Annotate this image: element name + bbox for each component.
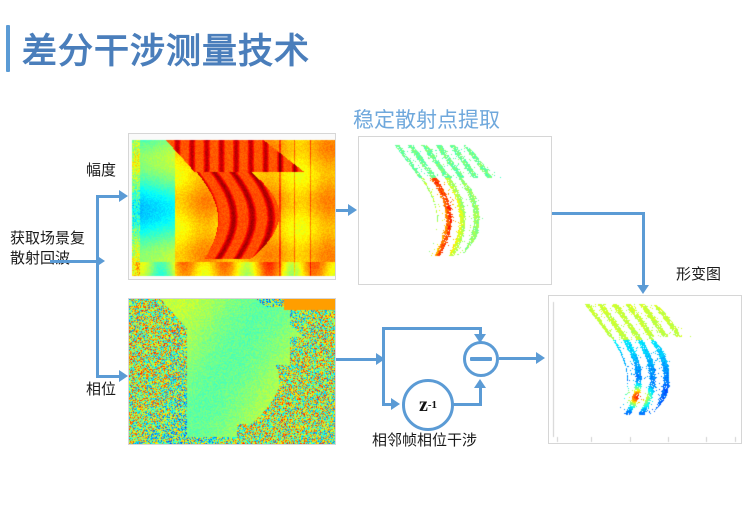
- arrowhead-loop-to-delay: [391, 398, 400, 410]
- deformation-map-image: [548, 295, 742, 444]
- arrowhead-amplitude-to-extraction: [348, 204, 357, 216]
- title-accent-bar: [6, 25, 10, 72]
- delay-symbol: z: [419, 394, 428, 417]
- label-deformation-map: 形变图: [676, 265, 721, 285]
- page-title: 差分干涉测量技术: [22, 23, 310, 74]
- minus-icon: [470, 357, 492, 361]
- phase-sar-image: [128, 298, 336, 445]
- slide-canvas: 差分干涉测量技术 稳定散射点提取 获取场景复 散射回波 幅度 相位 形变图 相邻…: [0, 0, 750, 529]
- stable-scatterer-image: [358, 136, 552, 285]
- connector-loop-left-riser: [382, 327, 385, 403]
- connector-delay-riser: [479, 388, 482, 404]
- arrowhead-split-to-amplitude: [119, 190, 128, 202]
- delay-exponent: -1: [428, 399, 437, 411]
- amplitude-sar-image: [128, 133, 336, 280]
- connector-split-to-phase: [96, 375, 120, 378]
- arrowhead-sum-to-deformation: [536, 352, 545, 364]
- connector-sum-to-deformation: [499, 357, 539, 360]
- label-input-signal: 获取场景复 散射回波: [10, 229, 85, 270]
- arrowhead-split-to-phase: [119, 370, 128, 382]
- connector-delay-out: [453, 403, 482, 406]
- connector-extraction-down: [642, 212, 645, 286]
- heading-stable-scatterer-extraction: 稳定散射点提取: [353, 104, 500, 134]
- connector-split-trunk: [96, 195, 99, 378]
- connector-loop-top: [382, 327, 480, 330]
- label-adjacent-frame-interference: 相邻帧相位干涉: [372, 431, 477, 451]
- label-phase: 相位: [86, 380, 116, 400]
- label-amplitude: 幅度: [86, 161, 116, 181]
- connector-extraction-right: [552, 212, 645, 215]
- arrowhead-delay-into-sum-bottom: [474, 379, 486, 388]
- connector-input-to-split: [50, 260, 96, 263]
- arrowhead-extraction-to-deformation: [637, 285, 649, 294]
- connector-split-to-amplitude: [96, 195, 120, 198]
- unit-delay-label: z-1: [402, 379, 454, 431]
